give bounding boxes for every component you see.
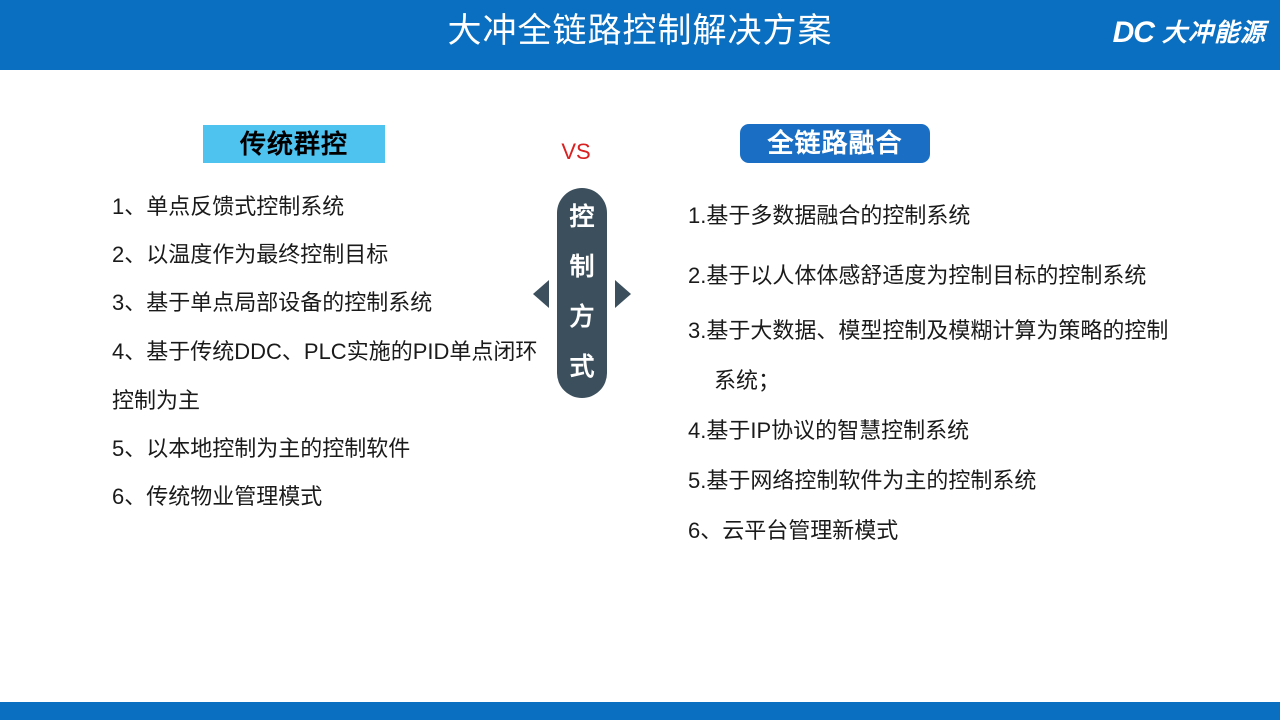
list-item: 6、传统物业管理模式 [112,473,542,521]
list-item-continuation: 系统； [688,356,1276,406]
list-item: 4、基于传统DDC、PLC实施的PID单点闭环控制为主 [112,327,542,425]
list-item: 2、以温度作为最终控制目标 [112,231,542,279]
pill-char: 控 [557,192,607,242]
logo-mark-icon: DC [1113,16,1154,50]
logo-company-name: 大冲能源 [1162,16,1266,50]
list-item: 4.基于IP协议的智慧控制系统 [688,406,1276,456]
list-item: 3.基于大数据、模型控制及模糊计算为策略的控制 [688,306,1276,356]
right-panel-list: 1.基于多数据融合的控制系统 2.基于以人体体感舒适度为控制目标的控制系统 3.… [688,186,1276,556]
footer-bar [0,702,1280,720]
left-panel-heading: 传统群控 [203,125,385,163]
list-item: 3、基于单点局部设备的控制系统 [112,279,542,327]
vs-label: VS [546,138,606,166]
pill-char: 方 [557,292,607,342]
right-panel-heading: 全链路融合 [740,124,930,163]
list-item: 6、云平台管理新模式 [688,506,1276,556]
list-item: 1.基于多数据融合的控制系统 [688,186,1276,246]
pill-char: 式 [557,342,607,392]
company-logo: DC 大冲能源 [1113,16,1266,50]
list-item: 5.基于网络控制软件为主的控制系统 [688,456,1276,506]
list-item: 5、以本地控制为主的控制软件 [112,425,542,473]
list-item: 1、单点反馈式控制系统 [112,183,542,231]
list-item: 2.基于以人体体感舒适度为控制目标的控制系统 [688,246,1276,306]
arrow-right-icon [615,280,631,308]
comparison-axis-pill: 控 制 方 式 [557,188,607,398]
pill-char: 制 [557,242,607,292]
page-title: 大冲全链路控制解决方案 [0,8,1280,54]
left-panel-list: 1、单点反馈式控制系统 2、以温度作为最终控制目标 3、基于单点局部设备的控制系… [112,183,542,521]
arrow-left-icon [533,280,549,308]
